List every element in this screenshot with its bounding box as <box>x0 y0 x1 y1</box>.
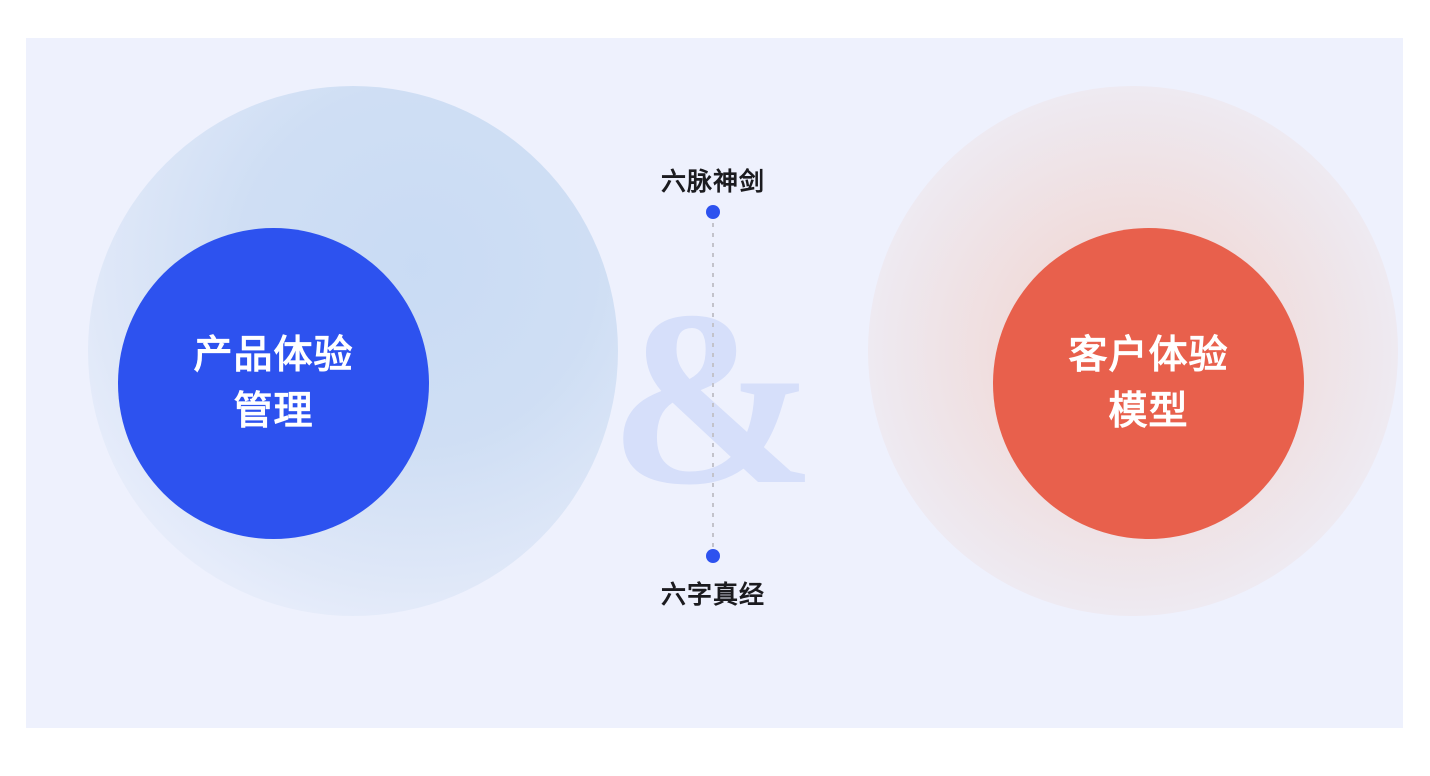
diagram-panel: 产品体验 管理 客户体验 模型 & 六脉神剑 六字真经 <box>26 38 1403 728</box>
connector-dashed-line <box>712 223 714 551</box>
left-circle-line-2: 管理 <box>233 384 313 439</box>
connector-top-label: 六脉神剑 <box>588 162 838 198</box>
diagram-canvas: 产品体验 管理 客户体验 模型 & 六脉神剑 六字真经 <box>0 0 1430 776</box>
product-experience-management-circle[interactable]: 产品体验 管理 <box>118 228 429 539</box>
right-circle-line-1: 客户体验 <box>1068 328 1228 383</box>
connector-bottom-label: 六字真经 <box>588 575 838 611</box>
connector-column: & 六脉神剑 六字真经 <box>588 38 838 728</box>
customer-experience-model-circle[interactable]: 客户体验 模型 <box>993 228 1304 539</box>
left-circle-line-1: 产品体验 <box>193 328 353 383</box>
right-circle-line-2: 模型 <box>1108 384 1188 439</box>
connector-top-dot-icon <box>706 205 720 219</box>
connector-bottom-dot-icon <box>706 549 720 563</box>
